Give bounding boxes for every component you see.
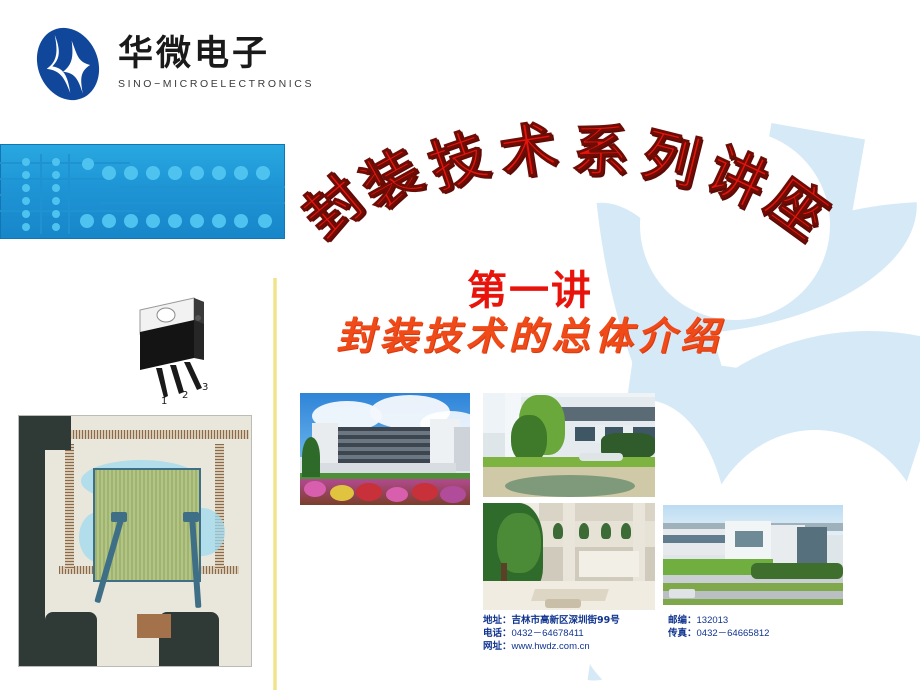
title-char-4: 系 [571, 123, 631, 183]
contact-phone-label: 电话： [483, 628, 512, 639]
contact-phone: 电话：0432－64678411 [483, 627, 668, 640]
company-building-photo-1 [300, 393, 470, 505]
company-logo: 华微电子 SINO−MICROELECTRONICS [30, 24, 280, 106]
title-char-2: 技 [422, 126, 494, 198]
contact-info-block: 地址：吉林市高新区深圳街99号 邮编：132013 电话：0432－646784… [483, 614, 903, 653]
contact-zip-value: 132013 [697, 615, 729, 626]
svg-text:3: 3 [202, 382, 208, 393]
contact-zip: 邮编：132013 [668, 614, 728, 627]
contact-zip-label: 邮编： [668, 615, 697, 626]
company-building-photo-3 [483, 503, 655, 610]
logo-company-name-cn: 华微电子 [118, 34, 314, 74]
presentation-slide: 华微电子 SINO−MICROELECTRONICS [0, 0, 920, 690]
logo-company-name-en: SINO−MICROELECTRONICS [118, 78, 314, 90]
title-char-3: 术 [496, 120, 561, 185]
svg-text:2: 2 [182, 390, 188, 401]
contact-web: 网址：www.hwdz.com.cn [483, 640, 668, 653]
pcb-circuit-board-image [0, 144, 285, 239]
contact-address-label: 地址： [483, 615, 512, 626]
contact-address: 地址：吉林市高新区深圳街99号 [483, 614, 668, 627]
title-char-7: 座 [757, 169, 837, 249]
company-building-photo-2 [483, 393, 655, 497]
company-building-photo-4 [663, 505, 843, 605]
sparkle-ellipse-logo-icon [32, 24, 104, 104]
contact-web-label: 网址： [483, 641, 512, 652]
logo-text-block: 华微电子 SINO−MICROELECTRONICS [118, 34, 314, 90]
contact-fax-value: 0432－64665812 [697, 628, 770, 639]
title-char-5: 列 [636, 126, 705, 195]
contact-web-value[interactable]: www.hwdz.com.cn [512, 641, 590, 652]
contact-row-phone: 电话：0432－64678411 传真：0432－64665812 [483, 627, 903, 640]
contact-phone-value: 0432－64678411 [512, 628, 584, 639]
contact-fax-label: 传真： [668, 628, 697, 639]
svg-text:1: 1 [161, 396, 167, 406]
contact-address-value: 吉林市高新区深圳街99号 [512, 615, 620, 626]
page-title: 封 装 技 术 系 列 讲 座 [300, 128, 875, 253]
semiconductor-die-image [18, 415, 252, 667]
lecture-topic: 封装技术的总体介绍 [0, 305, 920, 360]
contact-row-web: 网址：www.hwdz.com.cn [483, 640, 903, 653]
contact-fax: 传真：0432－64665812 [668, 627, 769, 640]
contact-row-address: 地址：吉林市高新区深圳街99号 邮编：132013 [483, 614, 903, 627]
